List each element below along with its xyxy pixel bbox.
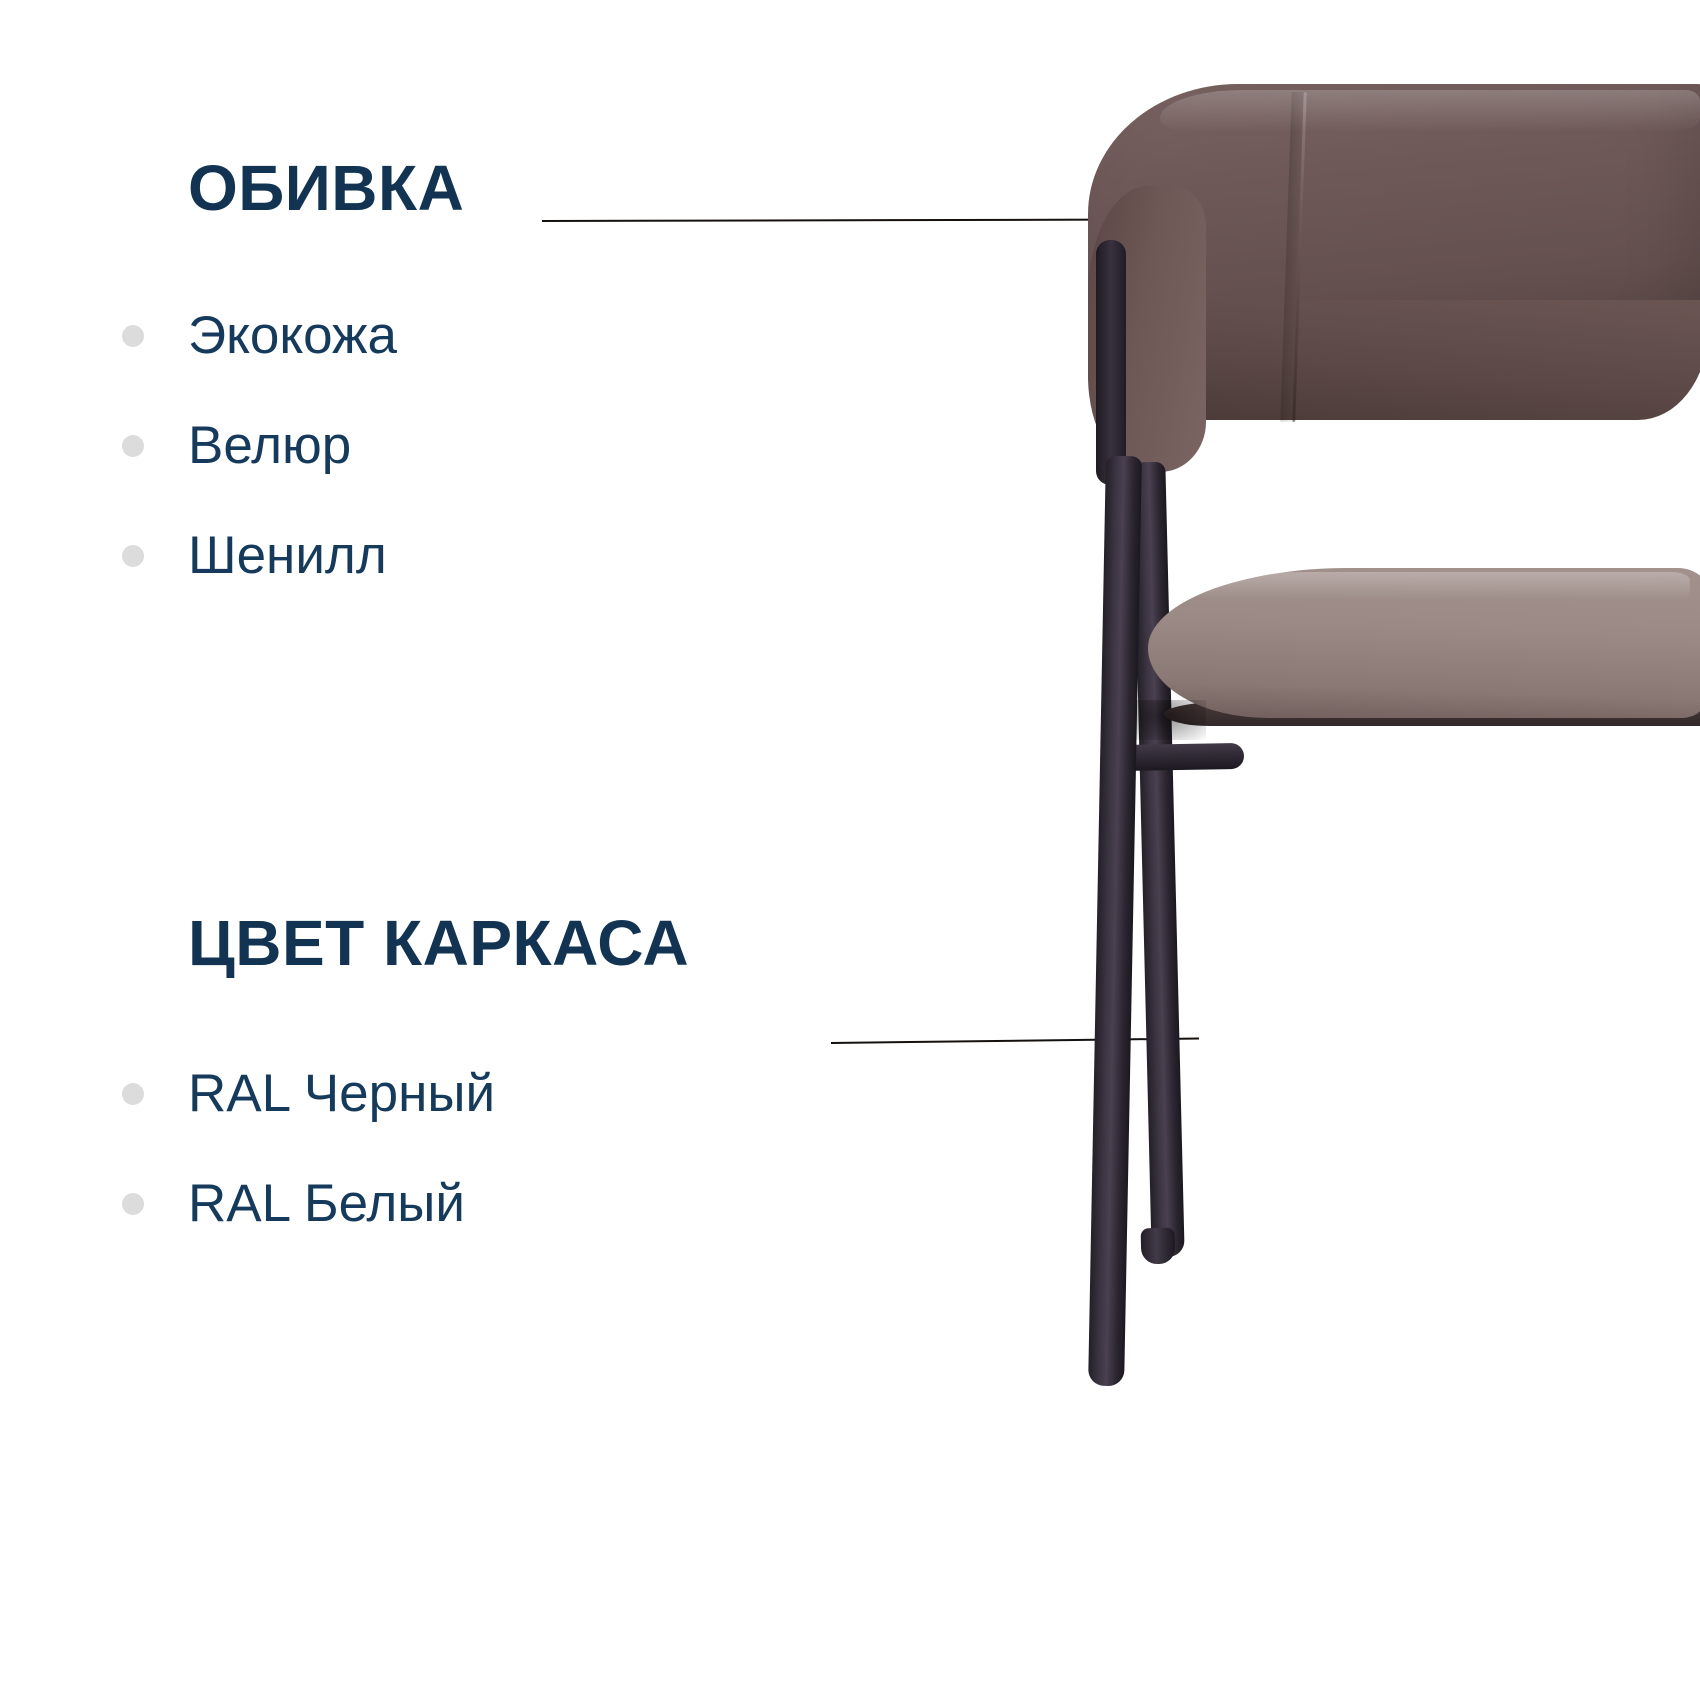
bullet-dot-icon [122,1083,144,1105]
bullet-dot-icon [122,325,144,347]
spec-heading-frame-color: ЦВЕТ КАРКАСА [0,905,1050,981]
spec-heading-upholstery: ОБИВКА [0,150,1050,226]
option-label: Шенилл [188,525,387,587]
spec-group-frame-color: ЦВЕТ КАРКАСА RAL Черный RAL Белый [0,905,1050,1259]
bullet-dot-icon [122,1193,144,1215]
chair-leg-front [1088,456,1142,1387]
chair-seat-highlight [1190,572,1690,600]
chair-leg-rear [1132,462,1184,1258]
list-item[interactable]: Шенилл [0,501,1050,611]
bullet-dot-icon [122,545,144,567]
chair-photo [1040,0,1700,1700]
option-label: Экокожа [188,305,397,367]
list-item[interactable]: Велюр [0,391,1050,501]
list-item[interactable]: Экокожа [0,281,1050,391]
chair-frame-junction-shadow [1136,700,1206,740]
option-list-upholstery: Экокожа Велюр Шенилл [0,281,1050,611]
option-label: Велюр [188,415,351,477]
chair-leg-rear-foot [1141,1228,1176,1265]
spec-info-panel: ОБИВКА Экокожа Велюр Шенилл ЦВЕТ КАРКАСА [0,0,1050,1700]
option-label: RAL Белый [188,1173,465,1235]
option-label: RAL Черный [188,1063,495,1125]
list-item[interactable]: RAL Черный [0,1039,1050,1149]
option-list-frame-color: RAL Черный RAL Белый [0,1039,1050,1259]
bullet-dot-icon [122,435,144,457]
chair-frame-upright [1096,240,1126,485]
list-item[interactable]: RAL Белый [0,1149,1050,1259]
product-spec-slide: ОБИВКА Экокожа Велюр Шенилл ЦВЕТ КАРКАСА [0,0,1700,1700]
chair-backrest-highlight [1160,90,1700,132]
